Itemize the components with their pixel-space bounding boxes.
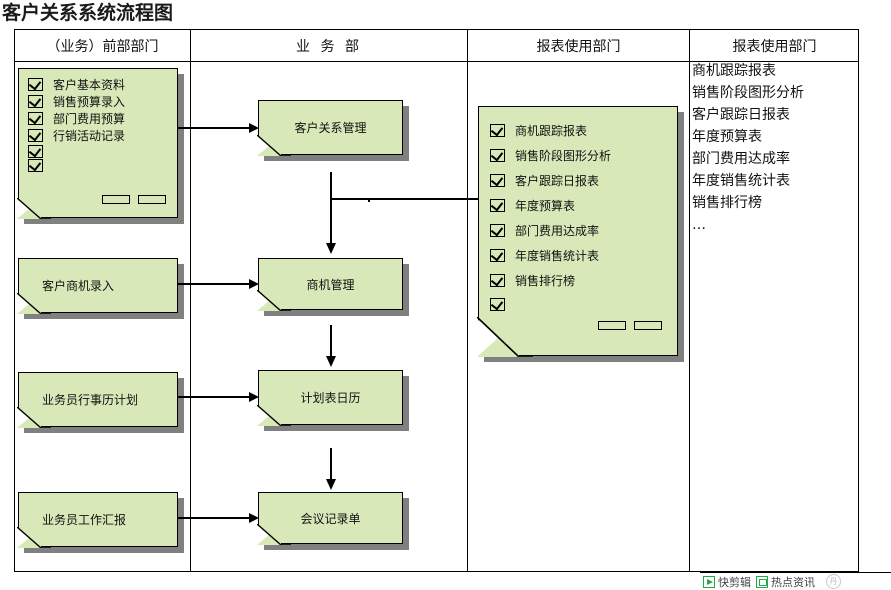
arrow-crm-to-opportunity xyxy=(330,172,332,244)
column-divider-1 xyxy=(190,29,191,572)
list-item: 行销活动记录 xyxy=(28,127,178,144)
checkbox-checked-icon[interactable] xyxy=(490,174,505,187)
list-item-label: 年度预算表 xyxy=(515,197,575,214)
toolbar-item-hot-news[interactable]: 热点资讯 xyxy=(756,574,815,590)
checkbox-checked-icon[interactable] xyxy=(490,124,505,137)
report-list-item: 年度销售统计表 xyxy=(692,170,858,192)
arrow-col1-to-crm xyxy=(178,127,250,129)
checkbox-checked-icon[interactable] xyxy=(490,149,505,162)
badge-circle-icon[interactable]: 丹 xyxy=(826,574,841,589)
box-meeting-record[interactable]: 会议记录单 xyxy=(258,492,403,544)
checkbox-checked-icon[interactable] xyxy=(28,129,43,142)
list-item: 销售预算录入 xyxy=(28,93,178,110)
doc-fold-edge xyxy=(477,317,533,357)
box-label: 业务员行事历计划 xyxy=(18,372,178,427)
list-item: 部门费用达成率 xyxy=(490,218,678,243)
checkbox-filler xyxy=(28,158,178,172)
checkbox-checked-icon[interactable] xyxy=(28,145,43,158)
arrow-opportunity-to-calendar xyxy=(330,325,332,357)
box-label: 商机管理 xyxy=(258,258,403,310)
column-header-4: 报表使用部门 xyxy=(690,36,859,58)
box-customer-opportunity-input[interactable]: 客户商机录入 xyxy=(18,258,178,313)
column-header-3: 报表使用部门 xyxy=(468,36,689,58)
doc-rows: 商机跟踪报表 销售阶段图形分析 客户跟踪日报表 年度预算表 部门费用达成率 年度… xyxy=(478,106,678,315)
box-label: 会议记录单 xyxy=(258,492,403,544)
list-item-label: 部门费用预算 xyxy=(53,110,125,127)
list-item-label: 销售排行榜 xyxy=(515,272,575,289)
list-item-label: 行销活动记录 xyxy=(53,127,125,144)
flowchart-page: 客户关系系统流程图 （业务）前部部门 业 务 部 报表使用部门 报表使用部门 客… xyxy=(0,0,891,590)
list-item-label: 年度销售统计表 xyxy=(515,247,599,264)
toolbar-item-quick-edit[interactable]: 快剪辑 xyxy=(703,574,751,590)
report-list: 商机跟踪报表 销售阶段图形分析 客户跟踪日报表 年度预算表 部门费用达成率 年度… xyxy=(692,60,858,236)
list-item-label: 销售阶段图形分析 xyxy=(515,147,611,164)
checkbox-checked-icon[interactable] xyxy=(490,199,505,212)
doc-button-2[interactable] xyxy=(138,195,166,204)
list-item: 销售阶段图形分析 xyxy=(490,143,678,168)
doc-buttons[interactable] xyxy=(598,321,662,330)
checkbox-checked-icon[interactable] xyxy=(490,249,505,262)
box-opportunity-management[interactable]: 商机管理 xyxy=(258,258,403,310)
doc-button-1[interactable] xyxy=(102,195,130,204)
list-item-label: 商机跟踪报表 xyxy=(515,122,587,139)
checkbox-checked-icon[interactable] xyxy=(28,78,43,91)
arrow-col1-to-opportunity xyxy=(178,283,250,285)
list-item-label: 部门费用达成率 xyxy=(515,222,599,239)
report-list-ellipsis: … xyxy=(692,214,858,236)
checkbox-checked-icon[interactable] xyxy=(28,112,43,125)
checkbox-checked-icon[interactable] xyxy=(28,159,43,172)
doc-buttons[interactable] xyxy=(102,195,166,204)
list-item-label: 客户基本资料 xyxy=(53,76,125,93)
document-reports[interactable]: 商机跟踪报表 销售阶段图形分析 客户跟踪日报表 年度预算表 部门费用达成率 年度… xyxy=(478,106,678,356)
arrow-col1-to-calendar xyxy=(178,396,250,398)
toolbar-item-label: 热点资讯 xyxy=(771,574,815,590)
list-item-label: 销售预算录入 xyxy=(53,93,125,110)
report-list-item: 部门费用达成率 xyxy=(692,148,858,170)
box-label: 计划表日历 xyxy=(258,370,403,425)
column-header-1: （业务）前部部门 xyxy=(15,36,190,58)
arrow-calendar-to-meeting xyxy=(330,448,332,480)
checkbox-checked-icon[interactable] xyxy=(490,224,505,237)
checkbox-filler xyxy=(28,144,178,158)
list-item: 部门费用预算 xyxy=(28,110,178,127)
column-header-2: 业 务 部 xyxy=(191,36,467,58)
monitor-icon xyxy=(756,576,768,588)
arrow-col2-to-report xyxy=(350,198,495,200)
box-label: 客户关系管理 xyxy=(258,100,403,155)
checkbox-checked-icon[interactable] xyxy=(28,95,43,108)
doc-button-1[interactable] xyxy=(598,321,626,330)
bottom-toolbar: 快剪辑 热点资讯 丹 xyxy=(700,572,891,590)
column-divider-2 xyxy=(467,29,468,572)
column-divider-3 xyxy=(689,29,690,572)
checkbox-checked-icon[interactable] xyxy=(490,274,505,287)
box-salesperson-work-report[interactable]: 业务员工作汇报 xyxy=(18,492,178,547)
checkbox-filler xyxy=(490,293,678,315)
list-item: 销售排行榜 xyxy=(490,268,678,293)
doc-rows: 客户基本资料 销售预算录入 部门费用预算 行销活动记录 xyxy=(18,68,178,172)
box-salesperson-calendar-plan[interactable]: 业务员行事历计划 xyxy=(18,372,178,427)
report-list-item: 客户跟踪日报表 xyxy=(692,104,858,126)
document-customer-input[interactable]: 客户基本资料 销售预算录入 部门费用预算 行销活动记录 xyxy=(18,68,178,218)
report-list-item: 销售阶段图形分析 xyxy=(692,82,858,104)
report-list-item: 年度预算表 xyxy=(692,126,858,148)
list-item: 客户跟踪日报表 xyxy=(490,168,678,193)
box-label: 业务员工作汇报 xyxy=(18,492,178,547)
doc-button-2[interactable] xyxy=(634,321,662,330)
box-label: 客户商机录入 xyxy=(18,258,178,313)
list-item: 年度销售统计表 xyxy=(490,243,678,268)
box-schedule-calendar[interactable]: 计划表日历 xyxy=(258,370,403,425)
report-list-item: 销售排行榜 xyxy=(692,192,858,214)
box-crm-management[interactable]: 客户关系管理 xyxy=(258,100,403,155)
page-title: 客户关系系统流程图 xyxy=(2,0,173,25)
play-icon xyxy=(703,576,715,588)
checkbox-checked-icon[interactable] xyxy=(490,298,505,311)
toolbar-item-label: 快剪辑 xyxy=(718,574,751,590)
list-item-label: 客户跟踪日报表 xyxy=(515,172,599,189)
list-item: 商机跟踪报表 xyxy=(490,118,678,143)
list-item: 客户基本资料 xyxy=(28,76,178,93)
report-list-item: 商机跟踪报表 xyxy=(692,60,858,82)
list-item: 年度预算表 xyxy=(490,193,678,218)
arrow-col1-to-meeting xyxy=(178,517,250,519)
doc-fold-edge xyxy=(17,198,51,219)
